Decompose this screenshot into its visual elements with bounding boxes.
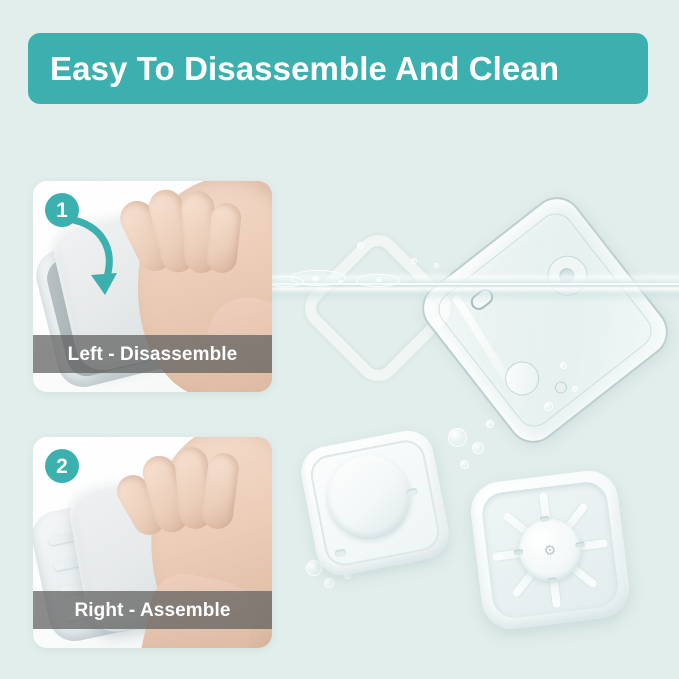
water-bubble <box>434 263 439 268</box>
page-title: Easy To Disassemble And Clean <box>50 52 559 85</box>
step-caption-1: Left - Disassemble <box>33 335 272 373</box>
water-bubble <box>357 242 364 249</box>
water-bubble <box>544 402 553 411</box>
water-bubble <box>472 442 484 454</box>
step-caption-1-text: Left - Disassemble <box>68 345 238 364</box>
step-card-1[interactable]: 1 Left - Disassemble <box>33 181 272 392</box>
infographic-canvas: Easy To Disassemble And Clean <box>0 0 679 679</box>
gear-icon: ⚙ <box>542 542 558 558</box>
step-card-2[interactable]: 2 Right - Assemble <box>33 437 272 648</box>
water-foam <box>312 276 319 281</box>
water-bubble <box>460 460 469 469</box>
water-bubble <box>560 362 567 369</box>
step-badge-2: 2 <box>45 449 79 483</box>
water-foam <box>338 280 343 284</box>
water-foam <box>376 278 382 282</box>
product-scene: ⚙ <box>272 120 679 679</box>
base-part: ⚙ <box>468 468 633 633</box>
lid-part <box>297 426 453 579</box>
water-bubble <box>486 420 494 428</box>
water-bubble <box>448 428 467 447</box>
container-body-part <box>412 187 679 454</box>
water-bubble <box>324 578 334 588</box>
step-caption-2: Right - Assemble <box>33 591 272 629</box>
step-caption-2-text: Right - Assemble <box>74 601 230 620</box>
step-badge-1: 1 <box>45 193 79 227</box>
water-bubble <box>411 258 417 264</box>
header-banner: Easy To Disassemble And Clean <box>28 33 648 104</box>
water-bubble <box>572 386 578 392</box>
